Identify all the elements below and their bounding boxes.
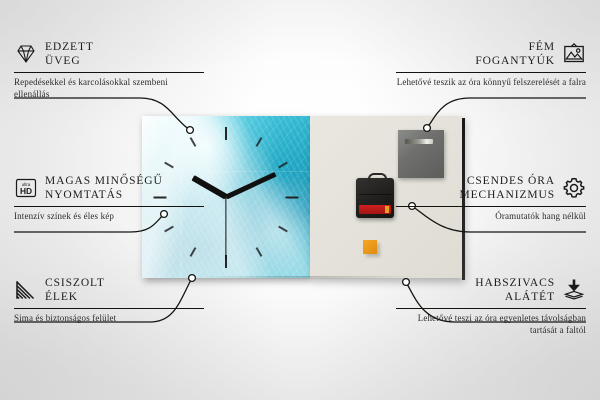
callout-subtitle: Lehetővé teszik az óra könnyű felszerelé…	[396, 76, 586, 88]
clock-mechanism	[356, 178, 394, 218]
foam-pad	[363, 240, 377, 254]
hour-tick	[190, 137, 197, 147]
callout-subtitle: Intenzív színek és éles kép	[14, 210, 204, 222]
callout-title: HABSZIVACSALÁTÉT	[475, 276, 555, 305]
hour-tick	[164, 226, 174, 233]
callout-head: EDZETTÜVEG	[14, 40, 204, 69]
callout-subtitle: Lehetővé teszi az óra egyenletes távolsá…	[396, 312, 586, 336]
callout-polished-edges[interactable]: CSISZOLTÉLEK Sima és biztonságos felület	[14, 276, 204, 324]
callout-metal-handles[interactable]: FÉMFOGANTYÚK Lehetővé teszik az óra könn…	[396, 40, 586, 88]
callout-rule	[396, 206, 586, 207]
foam-pad-arrow-icon	[562, 278, 586, 302]
hour-tick	[278, 226, 288, 233]
callout-head: CSENDES ÓRAMECHANIZMUS	[396, 174, 586, 203]
callout-title: FÉMFOGANTYÚK	[475, 40, 555, 69]
clock-minute-hand	[225, 172, 276, 199]
gear-icon	[562, 176, 586, 200]
picture-frame-hanger-icon	[562, 42, 586, 66]
diamond-icon	[14, 42, 38, 66]
metal-hanger-plate	[398, 130, 444, 178]
mechanism-seam	[359, 194, 391, 195]
hour-tick	[286, 196, 299, 198]
callout-subtitle: Óramutatók hang nélkül	[396, 210, 586, 222]
callout-title: EDZETTÜVEG	[45, 40, 94, 69]
polished-edges-icon	[14, 278, 38, 302]
hour-tick	[256, 137, 263, 147]
hour-tick	[278, 162, 288, 169]
callout-rule	[14, 72, 204, 73]
hanger-slot	[405, 139, 433, 144]
callout-silent-mechanism[interactable]: CSENDES ÓRAMECHANIZMUS Óramutatók hang n…	[396, 174, 586, 222]
ultra-hd-icon: ultra HD	[14, 176, 38, 200]
callout-subtitle: Sima és biztonságos felület	[14, 312, 204, 324]
callout-title: CSENDES ÓRAMECHANIZMUS	[459, 174, 555, 203]
callout-head: CSISZOLTÉLEK	[14, 276, 204, 305]
clock-second-hand	[225, 197, 226, 259]
callout-head: ultra HD MAGAS MINŐSÉGŰNYOMTATÁS	[14, 174, 204, 203]
mechanism-hanging-loop	[368, 173, 387, 183]
hour-tick	[225, 127, 227, 140]
callout-head: HABSZIVACSALÁTÉT	[396, 276, 586, 305]
callout-title: MAGAS MINŐSÉGŰNYOMTATÁS	[45, 174, 163, 203]
svg-text:HD: HD	[20, 186, 32, 196]
hour-tick	[190, 248, 197, 258]
callout-rule	[396, 308, 586, 309]
callout-high-quality-print[interactable]: ultra HD MAGAS MINŐSÉGŰNYOMTATÁS Intenzí…	[14, 174, 204, 222]
callout-foam-spacer[interactable]: HABSZIVACSALÁTÉT Lehetővé teszi az óra e…	[396, 276, 586, 336]
callout-title: CSISZOLTÉLEK	[45, 276, 105, 305]
callout-rule	[14, 308, 204, 309]
callout-rule	[396, 72, 586, 73]
callout-rule	[14, 206, 204, 207]
callout-subtitle: Repedésekkel és karcolásokkal szembeni e…	[14, 76, 204, 100]
hour-tick	[164, 162, 174, 169]
callout-tempered-glass[interactable]: EDZETTÜVEG Repedésekkel és karcolásokkal…	[14, 40, 204, 100]
battery	[359, 205, 391, 214]
callout-head: FÉMFOGANTYÚK	[396, 40, 586, 69]
hour-tick	[256, 248, 263, 258]
